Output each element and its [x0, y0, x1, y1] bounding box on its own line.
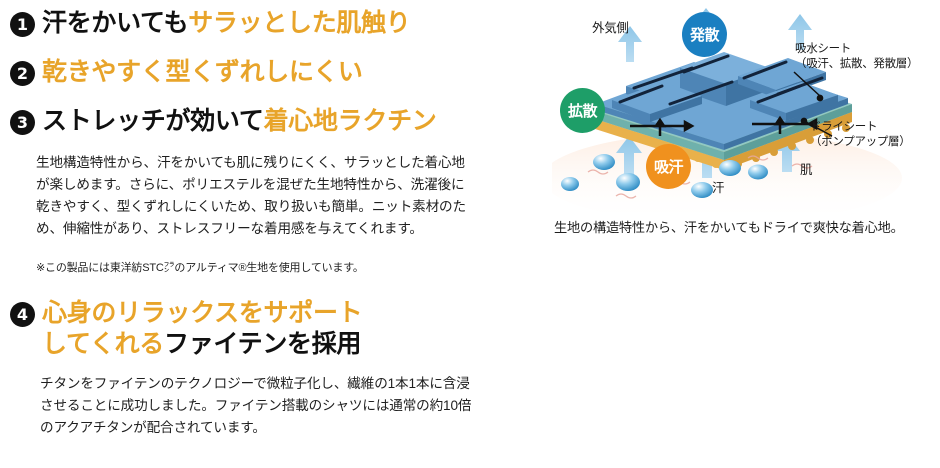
- feature-4-headline-part-3: ファイテンを採用: [164, 330, 361, 358]
- feature-2-headline: 乾きやすく型くずれしにくい: [42, 57, 363, 88]
- label-absorbent-sheet: 吸水シート （吸汗、拡散、発散層）: [795, 42, 918, 72]
- badge-sweat-absorption: 吸汗: [646, 144, 691, 189]
- feature-4-headline-part-1: 心身のリラックスをサポート: [42, 299, 362, 327]
- label-dry-sheet-line-1: ドライシート: [810, 120, 910, 135]
- feature-4-headline-block: 心身のリラックスをサポート してくれるファイテンを採用: [42, 298, 362, 360]
- feature-4-body-text: チタンをファイテンのテクノロジーで微粒子化し、繊維の1本1本に含浸させることに成…: [40, 373, 476, 439]
- label-sweat: 汗: [712, 180, 724, 197]
- diagram-caption: 生地の構造特性から、汗をかいてもドライで爽快な着心地。: [554, 218, 940, 238]
- feature-3-headline: ストレッチが効いて着心地ラクチン: [42, 106, 436, 137]
- feature-4-headline-row: 4 心身のリラックスをサポート してくれるファイテンを採用: [10, 298, 490, 360]
- feature-item-4: 4 心身のリラックスをサポート してくれるファイテンを採用: [10, 298, 490, 360]
- feature-number-badge-1: 1: [10, 12, 35, 37]
- label-absorbent-sheet-line-1: 吸水シート: [795, 42, 918, 57]
- feature-number-badge-2: 2: [10, 61, 35, 86]
- fabric-structure-diagram-column: 発散 拡散 吸汗 外気側 吸水シート （吸汗、拡散、発散層） ドライシート （ポ…: [552, 0, 940, 468]
- label-skin: 肌: [800, 162, 812, 179]
- feature-number-badge-4: 4: [10, 302, 35, 327]
- badge-diffusion: 拡散: [560, 88, 605, 133]
- feature-4-headline-line-2: してくれるファイテンを採用: [42, 329, 362, 360]
- feature-1-headline: 汗をかいてもサラッとした肌触り: [42, 8, 411, 39]
- feature-3-fineprint-note: ※この製品には東洋紡STC㌵のアルティマ®生地を使用しています。: [36, 261, 476, 276]
- feature-3-body-text: 生地構造特性から、汗をかいても肌に残りにくく、サラッとした着心地が楽しめます。さ…: [36, 152, 476, 240]
- feature-4-headline-part-2: してくれる: [42, 330, 164, 358]
- fabric-layer-diagram: 発散 拡散 吸汗 外気側 吸水シート （吸汗、拡散、発散層） ドライシート （ポ…: [552, 0, 940, 212]
- feature-2-headline-part-1: 乾きやすく型くずれしにくい: [42, 58, 363, 86]
- features-column: 1 汗をかいてもサラッとした肌触り 2 乾きやすく型くずれしにくい 3 ストレッ…: [0, 0, 500, 468]
- badge-evaporation: 発散: [682, 12, 727, 57]
- label-dry-sheet: ドライシート （ポンプアップ層）: [810, 120, 910, 150]
- product-feature-panel: 1 汗をかいてもサラッとした肌触り 2 乾きやすく型くずれしにくい 3 ストレッ…: [0, 0, 940, 468]
- feature-1-headline-part-2: サラッとした肌触り: [188, 9, 410, 37]
- feature-item-3: 3 ストレッチが効いて着心地ラクチン: [10, 106, 490, 137]
- feature-item-2: 2 乾きやすく型くずれしにくい: [10, 57, 490, 88]
- feature-item-1: 1 汗をかいてもサラッとした肌触り: [10, 8, 490, 39]
- label-outside-air: 外気側: [592, 20, 629, 37]
- label-absorbent-sheet-line-2: （吸汗、拡散、発散層）: [795, 57, 918, 72]
- feature-3-headline-row: 3 ストレッチが効いて着心地ラクチン: [10, 106, 490, 137]
- feature-1-headline-row: 1 汗をかいてもサラッとした肌触り: [10, 8, 490, 39]
- feature-1-headline-part-1: 汗をかいても: [42, 9, 188, 37]
- label-dry-sheet-line-2: （ポンプアップ層）: [810, 135, 910, 150]
- feature-3-headline-part-1: ストレッチが効いて: [42, 107, 264, 135]
- feature-3-headline-part-2: 着心地ラクチン: [264, 107, 437, 135]
- feature-2-headline-row: 2 乾きやすく型くずれしにくい: [10, 57, 490, 88]
- feature-4-headline-line-1: 心身のリラックスをサポート: [42, 298, 362, 329]
- feature-number-badge-3: 3: [10, 110, 35, 135]
